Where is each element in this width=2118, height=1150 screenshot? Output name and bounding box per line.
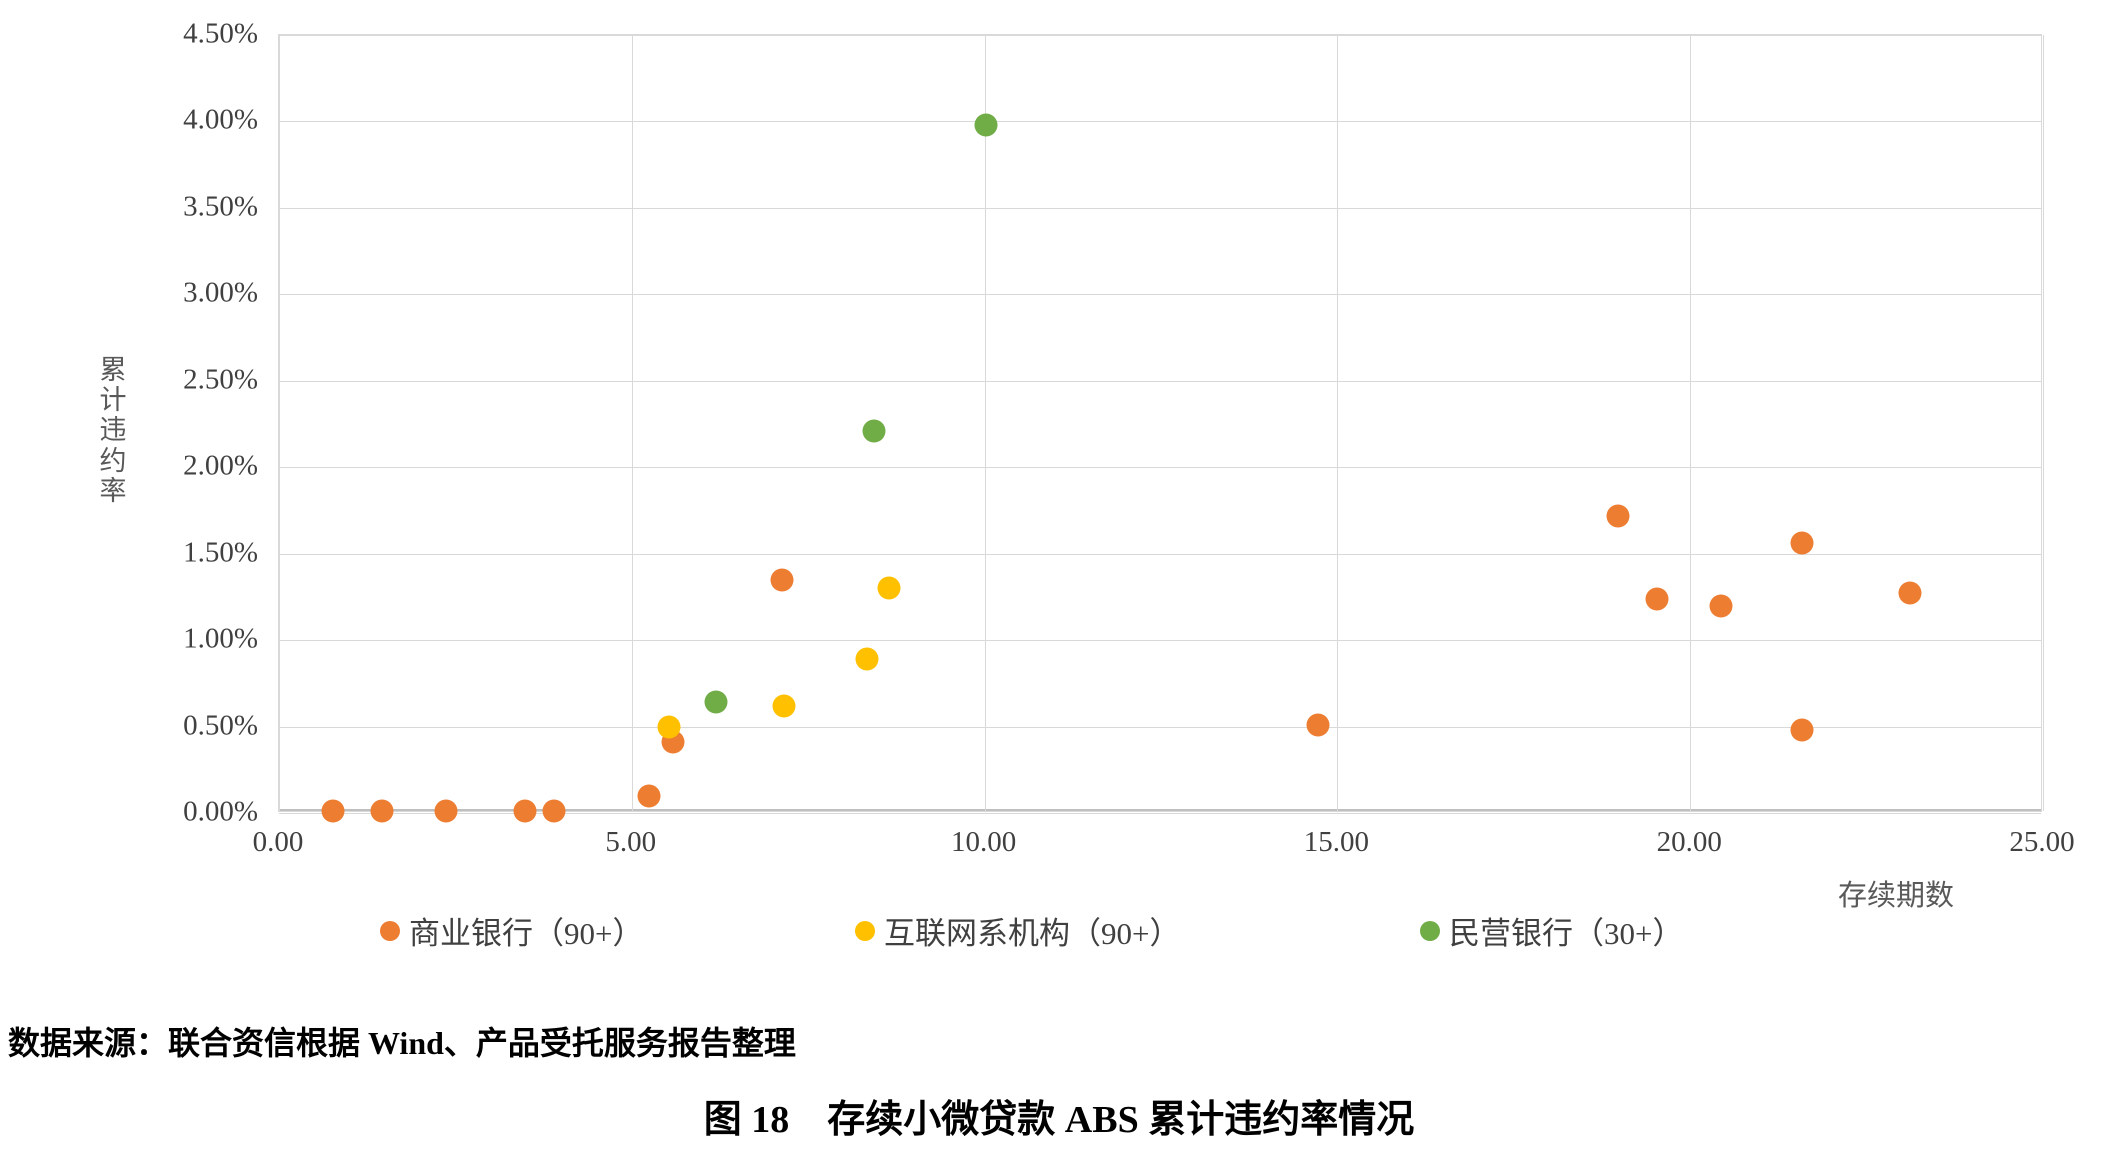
y-axis-tick-label: 3.00%	[183, 277, 258, 310]
scatter-point	[862, 419, 885, 442]
gridline-vertical	[279, 35, 280, 811]
scatter-point	[1790, 719, 1813, 742]
chart-legend: 商业银行（90+）互联网系机构（90+）民营银行（30+）	[0, 908, 2118, 964]
legend-item[interactable]: 互联网系机构（90+）	[855, 908, 1180, 953]
scatter-point	[1899, 582, 1922, 605]
y-axis-title: 累计违约率	[96, 355, 130, 506]
legend-item-label: 互联网系机构（90+）	[884, 908, 1180, 953]
legend-marker-dot-icon	[1420, 921, 1440, 941]
scatter-point	[855, 648, 878, 671]
gridline-horizontal	[279, 467, 2041, 468]
y-axis-tick-label: 3.50%	[183, 190, 258, 223]
gridline-horizontal	[279, 208, 2041, 209]
gridline-vertical	[985, 35, 986, 811]
scatter-point	[371, 800, 394, 823]
scatter-point	[322, 800, 345, 823]
scatter-point	[773, 694, 796, 717]
y-axis-tick-label: 2.00%	[183, 450, 258, 483]
gridline-horizontal	[279, 640, 2041, 641]
scatter-point	[1710, 594, 1733, 617]
scatter-point	[1646, 587, 1669, 610]
scatter-point	[1306, 713, 1329, 736]
scatter-point	[514, 800, 537, 823]
y-axis-tick-label: 1.00%	[183, 623, 258, 656]
x-axis-tick-label: 15.00	[1304, 826, 1369, 859]
scatter-point	[877, 577, 900, 600]
gridline-horizontal	[279, 381, 2041, 382]
legend-item[interactable]: 民营银行（30+）	[1420, 908, 1683, 953]
data-source-note: 数据来源：联合资信根据 Wind、产品受托服务报告整理	[8, 1018, 796, 1064]
chart-canvas: 0.00%0.50%1.00%1.50%2.00%2.50%3.00%3.50%…	[0, 0, 2118, 900]
scatter-point	[975, 113, 998, 136]
gridline-vertical	[1690, 35, 1691, 811]
gridline-horizontal	[279, 294, 2041, 295]
x-axis-tick-label: 10.00	[951, 826, 1016, 859]
gridline-vertical	[632, 35, 633, 811]
y-axis-title-char: 率	[96, 476, 130, 506]
gridline-horizontal	[279, 35, 2041, 36]
y-axis-tick-label: 4.00%	[183, 104, 258, 137]
legend-item[interactable]: 商业银行（90+）	[380, 908, 643, 953]
legend-marker-dot-icon	[380, 921, 400, 941]
x-axis-tick-label: 0.00	[253, 826, 304, 859]
y-axis-title-char: 计	[96, 385, 130, 415]
x-axis-tick-label: 20.00	[1657, 826, 1722, 859]
x-axis-tick-label: 5.00	[605, 826, 656, 859]
figure-container: 0.00%0.50%1.00%1.50%2.00%2.50%3.00%3.50%…	[0, 0, 2118, 1150]
gridline-horizontal	[279, 727, 2041, 728]
scatter-point	[638, 784, 661, 807]
x-axis-tick-label: 25.00	[2009, 826, 2074, 859]
legend-marker-dot-icon	[855, 921, 875, 941]
y-axis-title-char: 违	[96, 415, 130, 445]
y-axis-tick-label: 4.50%	[183, 18, 258, 51]
scatter-point	[705, 691, 728, 714]
scatter-point	[771, 568, 794, 591]
y-axis-tick-label: 1.50%	[183, 536, 258, 569]
gridline-horizontal	[279, 554, 2041, 555]
scatter-point	[435, 800, 458, 823]
scatter-point	[543, 800, 566, 823]
plot-area	[278, 34, 2042, 812]
legend-item-label: 商业银行（90+）	[409, 908, 643, 953]
gridline-vertical	[2043, 35, 2044, 811]
y-axis-title-char: 累	[96, 355, 130, 385]
scatter-point	[1790, 532, 1813, 555]
y-axis-title-char: 约	[96, 446, 130, 476]
y-axis-tick-label: 2.50%	[183, 363, 258, 396]
figure-caption: 图 18 存续小微贷款 ABS 累计违约率情况	[0, 1088, 2118, 1143]
scatter-point	[1606, 504, 1629, 527]
gridline-vertical	[1337, 35, 1338, 811]
scatter-point	[658, 715, 681, 738]
y-axis-tick-label: 0.50%	[183, 709, 258, 742]
legend-item-label: 民营银行（30+）	[1449, 908, 1683, 953]
gridline-horizontal	[279, 121, 2041, 122]
y-axis-tick-labels: 0.00%0.50%1.00%1.50%2.00%2.50%3.00%3.50%…	[120, 0, 260, 900]
y-axis-tick-label: 0.00%	[183, 796, 258, 829]
